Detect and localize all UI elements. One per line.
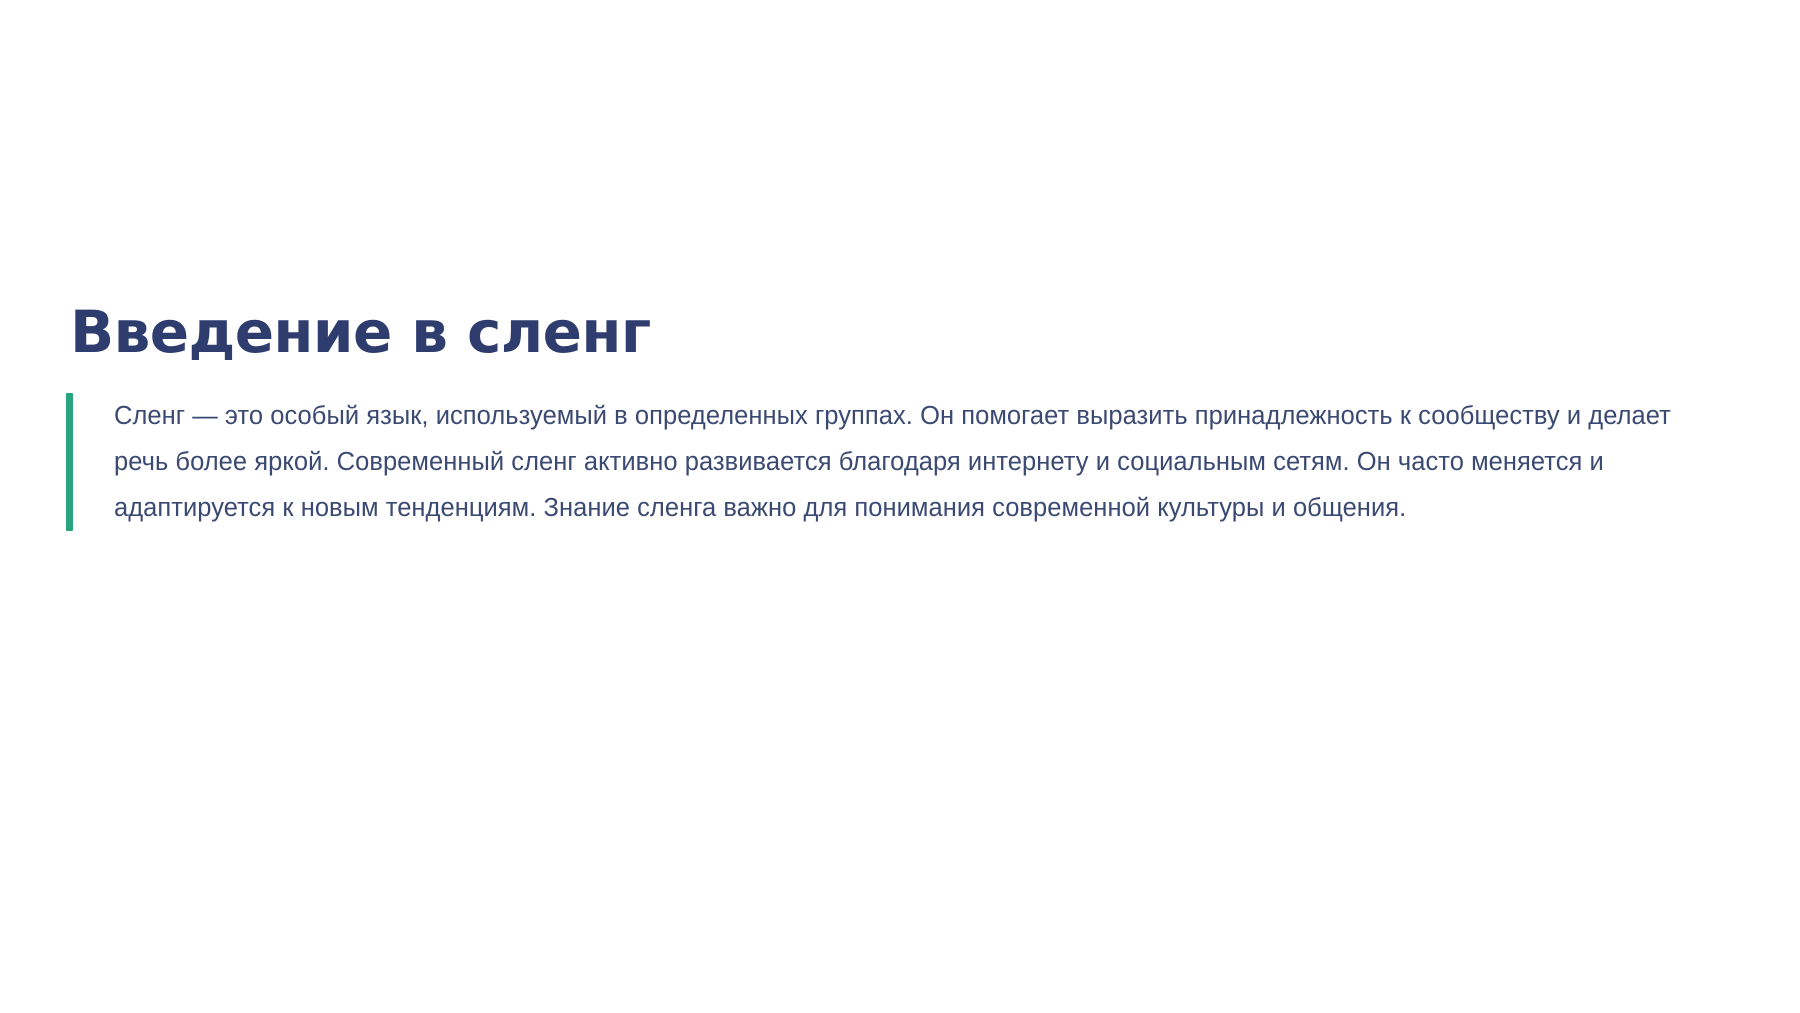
content-block: Введение в сленг Сленг — это особый язык… [66, 300, 1746, 531]
accent-bar [66, 393, 73, 531]
slide-canvas: Введение в сленг Сленг — это особый язык… [0, 0, 1800, 1013]
body-paragraph: Сленг — это особый язык, используемый в … [73, 393, 1726, 531]
page-title: Введение в сленг [66, 300, 1746, 365]
body-section: Сленг — это особый язык, используемый в … [66, 393, 1746, 531]
